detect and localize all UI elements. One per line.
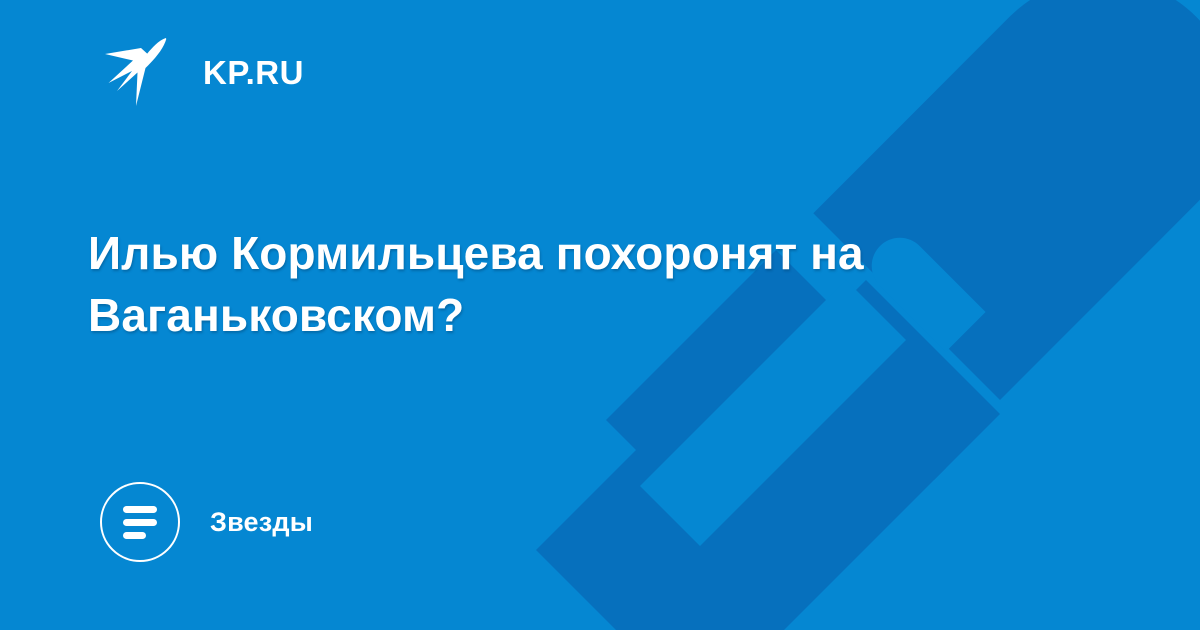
hamburger-lines-icon <box>100 482 180 562</box>
brand-wordmark: KP.RU <box>203 56 304 89</box>
category-badge[interactable]: Звезды <box>100 482 313 562</box>
brand-logo[interactable]: KP.RU <box>103 36 304 108</box>
swallow-bird-logo-icon <box>103 36 181 108</box>
category-label: Звезды <box>210 509 313 536</box>
hamburger-line-1 <box>123 506 157 513</box>
page-title: Илью Кормильцева похоронят на Ваганьковс… <box>88 222 1018 346</box>
hamburger-line-3 <box>123 532 146 539</box>
hamburger-line-2 <box>123 519 157 526</box>
article-share-card: KP.RU Илью Кормильцева похоронят на Вага… <box>0 0 1200 630</box>
